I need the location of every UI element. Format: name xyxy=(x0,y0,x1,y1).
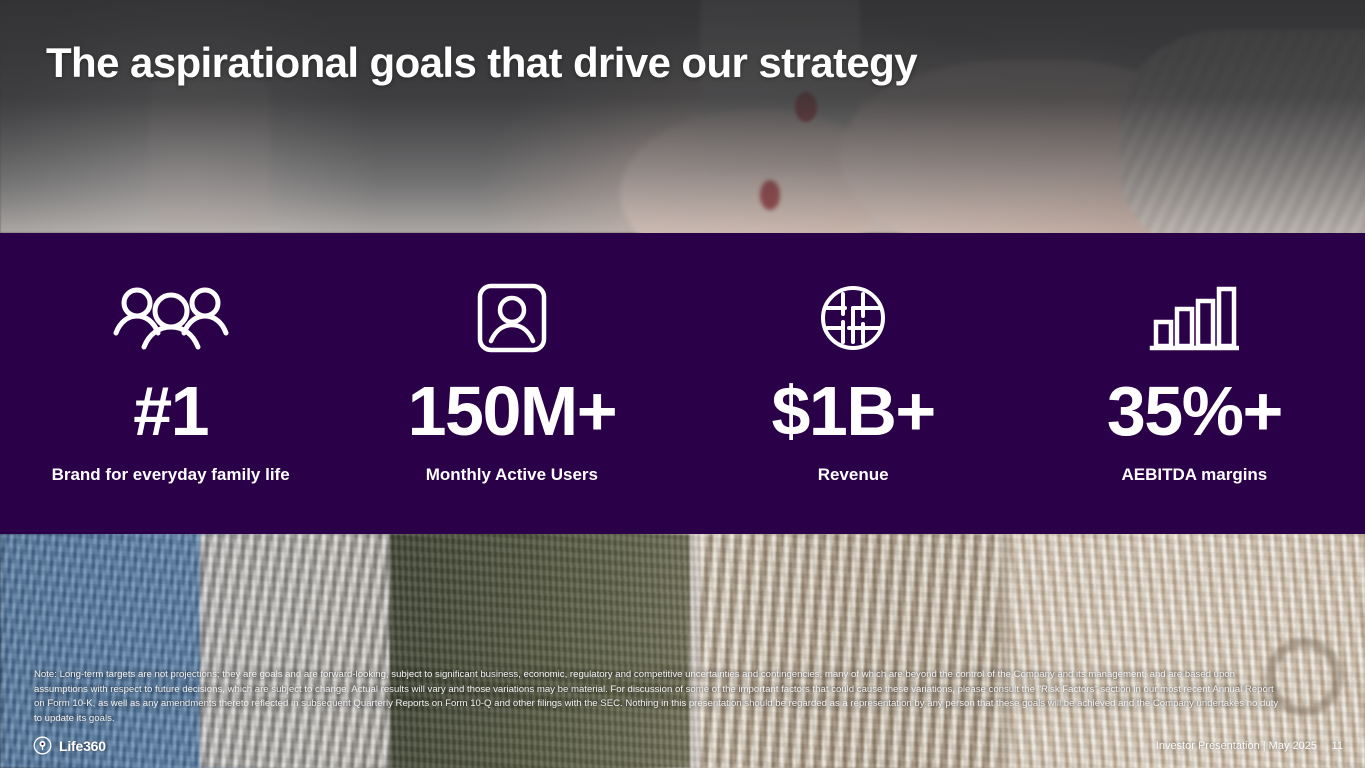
stat-value: 150M+ xyxy=(408,376,616,446)
brand-logo: Life360 xyxy=(33,736,106,755)
three-people-icon xyxy=(113,282,229,354)
stat-value: #1 xyxy=(133,376,208,446)
stat-value: $1B+ xyxy=(771,376,934,446)
stat-label: AEBITDA margins xyxy=(1121,464,1267,486)
hero-banner: The aspirational goals that drive our st… xyxy=(0,0,1365,233)
globe-icon xyxy=(817,282,889,354)
person-in-square-icon xyxy=(476,282,548,354)
stat-label: Revenue xyxy=(818,464,889,486)
stat-card-brand-rank: #1 Brand for everyday family life xyxy=(0,233,341,486)
stats-band: #1 Brand for everyday family life 150M+ … xyxy=(0,233,1365,534)
footnote-disclaimer: Note: Long-term targets are not projecti… xyxy=(34,668,1279,726)
slide-title: The aspirational goals that drive our st… xyxy=(46,40,917,86)
life360-pin-logo-icon xyxy=(33,736,52,755)
footer-photo-people-clothing xyxy=(0,534,1365,768)
footer-meta: Investor Presentation | May 2025 xyxy=(1156,740,1317,752)
hero-overlay-scrim xyxy=(0,0,1365,233)
bar-chart-icon xyxy=(1149,282,1239,354)
stat-card-aebitda-margins: 35%+ AEBITDA margins xyxy=(1024,233,1365,486)
stat-label: Brand for everyday family life xyxy=(52,464,290,486)
presentation-slide: The aspirational goals that drive our st… xyxy=(0,0,1365,768)
stat-card-monthly-active-users: 150M+ Monthly Active Users xyxy=(341,233,682,486)
stat-card-revenue: $1B+ Revenue xyxy=(683,233,1024,486)
stat-label: Monthly Active Users xyxy=(426,464,598,486)
stat-value: 35%+ xyxy=(1107,376,1282,446)
brand-name: Life360 xyxy=(59,738,106,754)
page-number: 11 xyxy=(1332,740,1343,752)
